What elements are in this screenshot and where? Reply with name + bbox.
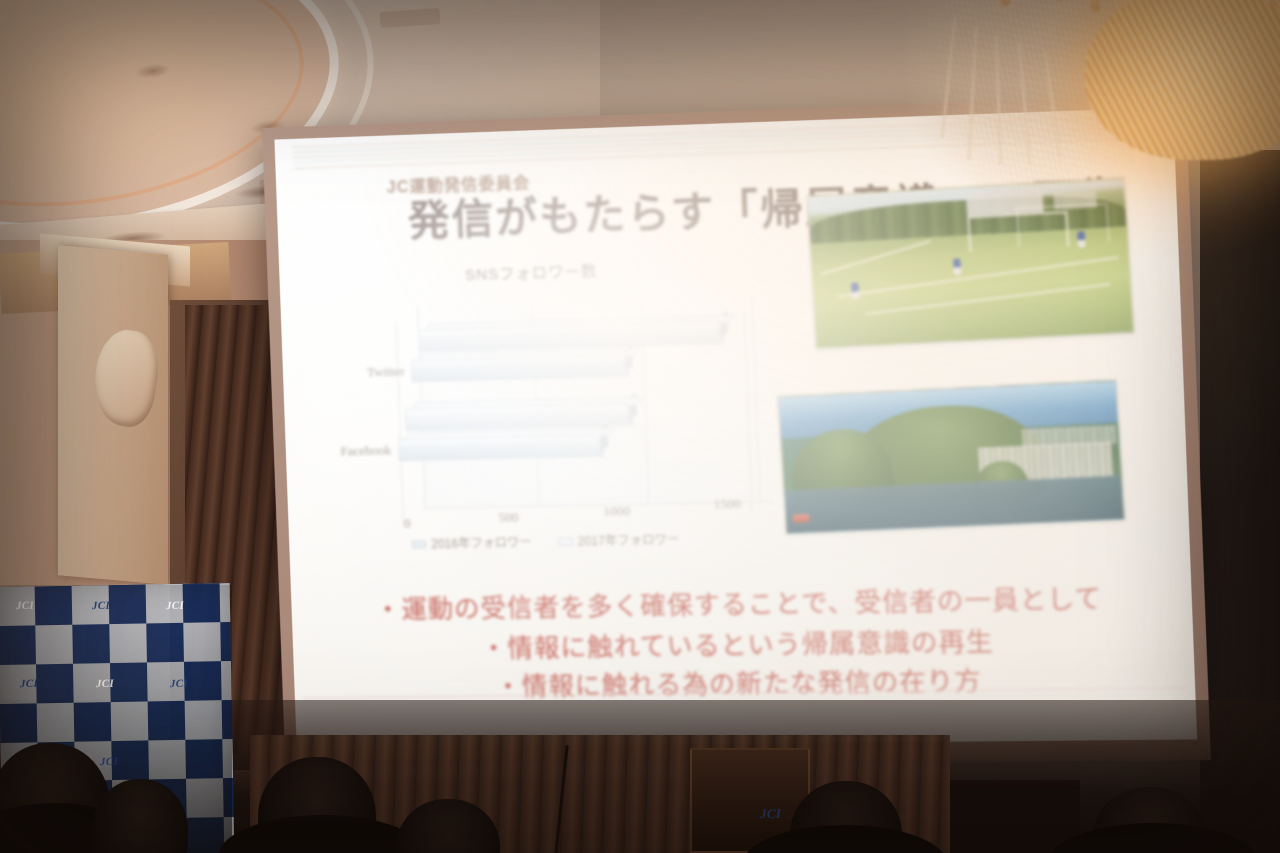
chart-category-label: Twitter [367, 363, 405, 380]
photo-field-line [837, 256, 1119, 297]
presentation-room-scene: JC運動発信委員会 発信がもたらす「帰属意識」の再生 SNSフォロワー数 [0, 0, 1280, 853]
legend-item-2016: 2016年フォロワー [412, 533, 532, 552]
legend-label: 2016年フォロワー [431, 533, 532, 552]
banner-logo-text: JCI [96, 678, 114, 690]
photo-player [851, 282, 859, 299]
chart-plot-area: Twitter Facebook 0 500 1000 1500 [417, 298, 774, 509]
banner-logo-text: JCI [16, 600, 34, 612]
bar-facebook-2016: Facebook [398, 434, 604, 461]
chart-title: SNSフォロワー数 [464, 260, 597, 285]
photo-player [953, 258, 961, 275]
crystal-chandelier [905, 0, 1280, 240]
chart-xtick: 1000 [603, 503, 630, 520]
chart-category-label: Facebook [340, 442, 391, 459]
banner-logo-text: JCI [20, 678, 38, 690]
chart-xtick: 1500 [713, 496, 741, 513]
photo-boat [792, 514, 809, 523]
chart-depth-edge [396, 322, 404, 520]
banner-logo-text: JCI [92, 600, 110, 612]
banner-logo-text: JCI [100, 756, 118, 768]
coastal-landscape-photo [778, 380, 1125, 534]
photo-field-line [820, 240, 931, 275]
banner-logo-text: JCI [166, 600, 184, 612]
chart-legend: 2016年フォロワー 2017年フォロワー [412, 530, 680, 552]
legend-label: 2017年フォロワー [577, 530, 679, 549]
chart-xtick: 0 [404, 515, 411, 531]
chart-xtick: 500 [498, 509, 518, 526]
legend-swatch-icon [558, 537, 573, 545]
banner-logo-text-right: JCI [760, 806, 781, 822]
banner-logo-text: JCI [170, 678, 188, 690]
sns-follower-chart: SNSフォロワー数 Twitter [371, 254, 794, 598]
legend-item-2017: 2017年フォロワー [558, 530, 680, 549]
chandelier-lower-tier [1085, 0, 1280, 160]
legend-swatch-icon [412, 540, 426, 548]
